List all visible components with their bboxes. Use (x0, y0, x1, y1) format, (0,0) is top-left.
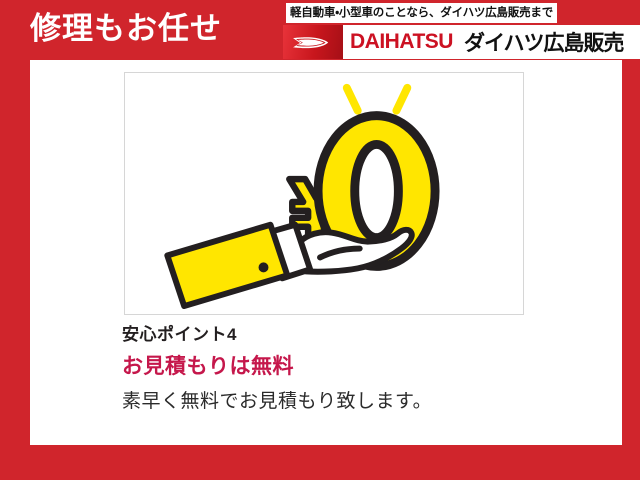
illustration-card (124, 72, 524, 315)
yellow-sleeve-icon (167, 225, 287, 306)
brand-tagline: 軽自動車・小型車のことなら、ダイハツ広島販売まで (286, 3, 557, 23)
caption-eyebrow: 安心ポイント4 (122, 323, 562, 347)
brand-logo-bar: DAIHATSU ダイハツ広島販売 (283, 25, 640, 59)
brand-japanese-name: ダイハツ広島販売 (464, 27, 624, 57)
page-title: 修理もお任せ (30, 9, 222, 49)
banner-header: 修理もお任せ 軽自動車・小型車のことなら、ダイハツ広島販売まで DAIHATSU… (0, 0, 640, 60)
hand-holding-zero-yen-illustration (125, 73, 523, 314)
caption-block: 安心ポイント4 お見積もりは無料 素早く無料でお見積もり致します。 (122, 323, 562, 416)
sparkle-icon (347, 88, 407, 111)
caption-title: お見積もりは無料 (122, 353, 562, 381)
daihatsu-d-emblem-icon (283, 25, 343, 59)
promo-banner-screen: 修理もお任せ 軽自動車・小型車のことなら、ダイハツ広島販売まで DAIHATSU… (0, 0, 640, 480)
caption-body: 素早く無料でお見積もり致します。 (122, 388, 562, 416)
brand-logo-block: 軽自動車・小型車のことなら、ダイハツ広島販売まで DAIHATSU ダイハツ広島… (283, 2, 640, 60)
brand-latin-name: DAIHATSU (350, 30, 453, 54)
content-panel: 安心ポイント4 お見積もりは無料 素早く無料でお見積もり致します。 (30, 60, 622, 445)
